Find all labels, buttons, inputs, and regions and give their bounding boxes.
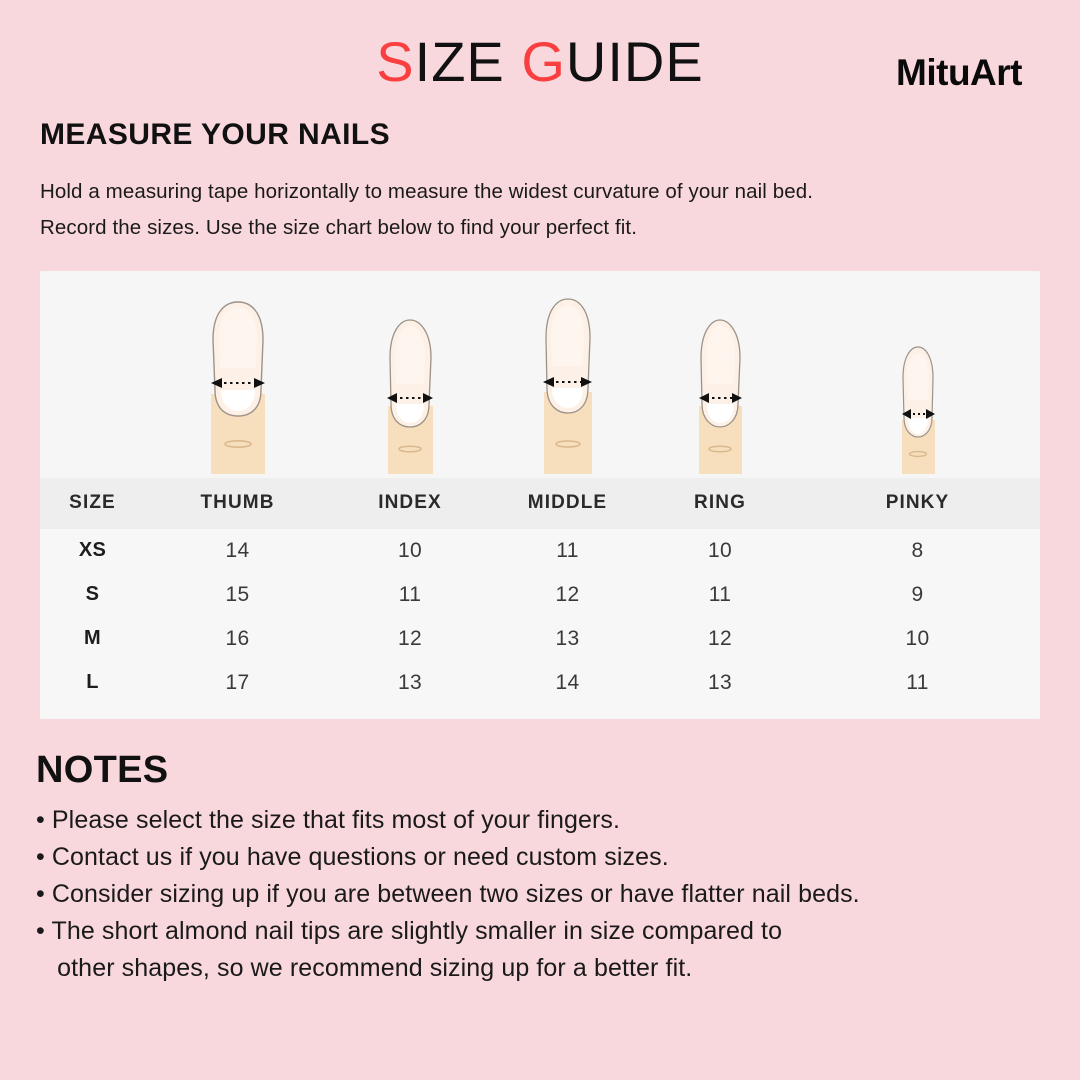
brand-logo: MituArt xyxy=(896,52,1022,94)
cell-ring: 10 xyxy=(645,529,795,573)
cell-pinky: 8 xyxy=(795,529,1040,573)
cell-size: S xyxy=(40,573,145,617)
notes-section: NOTES • Please select the size that fits… xyxy=(0,719,1080,987)
thumb-nail-cell xyxy=(145,298,330,476)
cell-size: M xyxy=(40,617,145,661)
cell-ring: 13 xyxy=(645,661,795,719)
title-accent-g: G xyxy=(521,30,566,93)
table-row: XS 14 10 11 10 8 xyxy=(40,529,1040,573)
middle-nail-cell xyxy=(490,294,645,476)
column-header-ring: RING xyxy=(645,478,795,529)
column-header-index: INDEX xyxy=(330,478,490,529)
cell-middle: 11 xyxy=(490,529,645,573)
notes-heading: NOTES xyxy=(36,749,1040,792)
cell-middle: 12 xyxy=(490,573,645,617)
cell-thumb: 17 xyxy=(145,661,330,719)
nail-illustration-row xyxy=(40,271,1040,478)
note-item: • Consider sizing up if you are between … xyxy=(36,876,1040,913)
cell-pinky: 9 xyxy=(795,573,1040,617)
measure-instruction-line-2: Record the sizes. Use the size chart bel… xyxy=(40,210,1040,246)
cell-size: L xyxy=(40,661,145,719)
cell-middle: 14 xyxy=(490,661,645,719)
cell-thumb: 16 xyxy=(145,617,330,661)
table-row: S 15 11 12 11 9 xyxy=(40,573,1040,617)
title-accent-s: S xyxy=(376,30,414,93)
note-item: • Contact us if you have questions or ne… xyxy=(36,839,1040,876)
cell-pinky: 11 xyxy=(795,661,1040,719)
cell-ring: 12 xyxy=(645,617,795,661)
table-row: M 16 12 13 12 10 xyxy=(40,617,1040,661)
title-text-ize: IZE xyxy=(415,30,522,93)
measure-instruction-line-1: Hold a measuring tape horizontally to me… xyxy=(40,174,1040,210)
cell-thumb: 15 xyxy=(145,573,330,617)
index-nail-cell xyxy=(330,314,490,476)
cell-index: 13 xyxy=(330,661,490,719)
cell-index: 10 xyxy=(330,529,490,573)
cell-index: 12 xyxy=(330,617,490,661)
thumb-nail-illustration xyxy=(199,298,277,476)
title-text-uide: UIDE xyxy=(566,30,704,93)
cell-pinky: 10 xyxy=(795,617,1040,661)
note-item-continuation: other shapes, so we recommend sizing up … xyxy=(36,950,1040,987)
cell-size: XS xyxy=(40,529,145,573)
measure-heading: MEASURE YOUR NAILS xyxy=(40,118,1040,152)
pinky-nail-illustration xyxy=(892,342,944,476)
index-nail-illustration xyxy=(377,314,443,476)
note-item: • Please select the size that fits most … xyxy=(36,802,1040,839)
middle-nail-illustration xyxy=(532,294,604,476)
measure-section: MEASURE YOUR NAILS Hold a measuring tape… xyxy=(0,118,1080,247)
cell-middle: 13 xyxy=(490,617,645,661)
cell-index: 11 xyxy=(330,573,490,617)
column-header-middle: MIDDLE xyxy=(490,478,645,529)
size-chart-panel: SIZE THUMB INDEX MIDDLE RING PINKY XS 14… xyxy=(40,271,1040,719)
ring-nail-illustration xyxy=(688,314,752,476)
pinky-nail-cell xyxy=(795,342,1040,476)
column-header-pinky: PINKY xyxy=(795,478,1040,529)
page-header: SIZE GUIDE MituArt xyxy=(0,0,1080,118)
table-header-row: SIZE THUMB INDEX MIDDLE RING PINKY xyxy=(40,478,1040,529)
table-row: L 17 13 14 13 11 xyxy=(40,661,1040,719)
cell-thumb: 14 xyxy=(145,529,330,573)
size-chart-table: SIZE THUMB INDEX MIDDLE RING PINKY XS 14… xyxy=(40,478,1040,719)
note-item: • The short almond nail tips are slightl… xyxy=(36,913,1040,950)
column-header-thumb: THUMB xyxy=(145,478,330,529)
cell-ring: 11 xyxy=(645,573,795,617)
column-header-size: SIZE xyxy=(40,478,145,529)
ring-nail-cell xyxy=(645,314,795,476)
